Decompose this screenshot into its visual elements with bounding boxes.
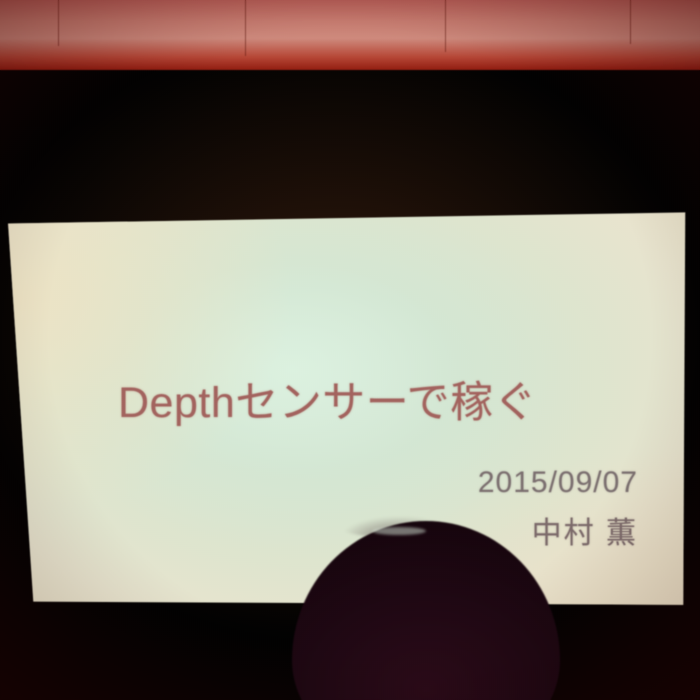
ceiling-panels bbox=[0, 0, 700, 70]
ceiling-seam bbox=[245, 0, 246, 56]
ceiling-seam bbox=[58, 0, 59, 46]
photograph: Depthセンサーで稼ぐ 2015/09/07 中村 薫 bbox=[0, 0, 700, 700]
slide-date: 2015/09/07 bbox=[478, 466, 638, 500]
ceiling-seam bbox=[445, 0, 446, 52]
audience-head-highlight bbox=[372, 527, 426, 535]
slide-title: Depthセンサーで稼ぐ bbox=[118, 368, 537, 430]
ceiling-seam bbox=[630, 0, 631, 44]
slide-author: 中村 薫 bbox=[532, 508, 638, 552]
